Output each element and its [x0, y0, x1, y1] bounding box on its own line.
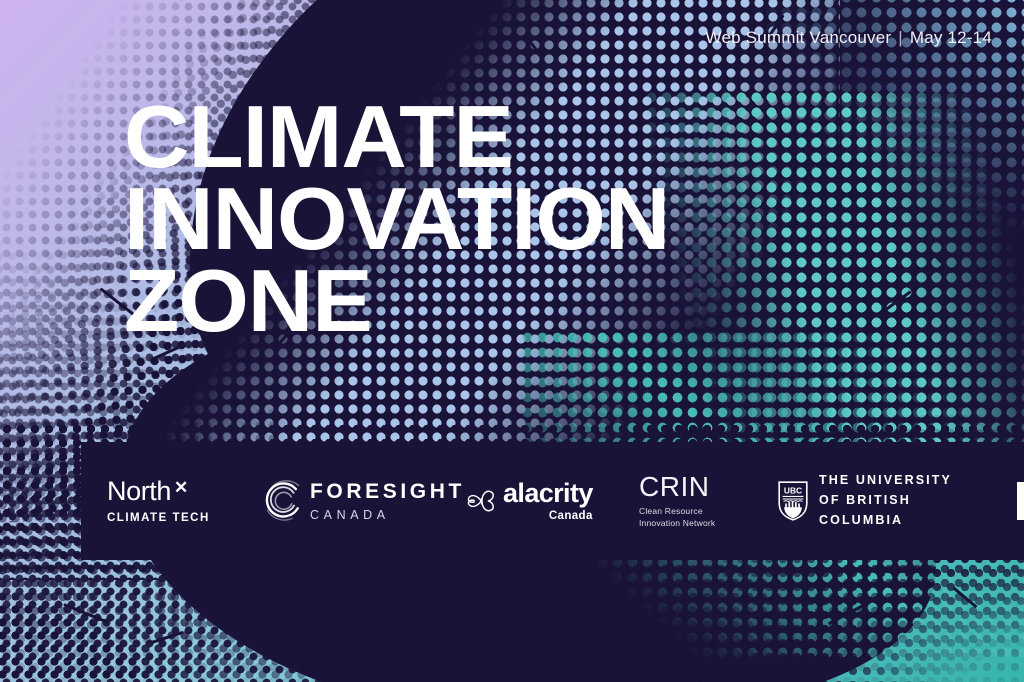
logo-alacrity-canada[interactable]: alacrity Canada: [465, 480, 605, 522]
alacrity-butterfly-icon: [465, 486, 499, 516]
event-header: Web Summit Vancouver|May 12-14: [706, 28, 992, 48]
logo-sfu[interactable]: SFU SIMON FRASER UNIVERSITY: [1017, 476, 1024, 527]
logo-crin[interactable]: CRIN Clean Resource Innovation Network: [639, 473, 744, 528]
svg-text:UBC: UBC: [784, 485, 802, 495]
close-x-icon: ✕: [174, 479, 188, 496]
crin-subtitle-line-2: Innovation Network: [639, 518, 715, 528]
ubc-crest-icon: UBC: [778, 481, 808, 521]
alacrity-word-1: alacrity: [503, 480, 593, 507]
foresight-wordmark: FORESIGHT CANADA: [310, 481, 465, 522]
crin-subtitle-line-1: Clean Resource: [639, 506, 703, 516]
foresight-word-1: FORESIGHT: [310, 481, 465, 502]
ubc-line-1: THE UNIVERSITY: [819, 471, 983, 491]
crin-subtitle: Clean Resource Innovation Network: [639, 506, 715, 528]
event-dates: May 12-14: [910, 28, 992, 47]
ubc-line-2: OF BRITISH COLUMBIA: [819, 491, 983, 531]
alacrity-wordmark: alacrity Canada: [503, 480, 593, 522]
headline-line-1: CLIMATE: [124, 96, 669, 178]
crin-wordmark: CRIN: [639, 473, 709, 501]
logo-northx-climate-tech[interactable]: North ✕ CLIMATE TECH: [107, 478, 227, 524]
northx-subtitle: CLIMATE TECH: [107, 512, 210, 524]
headline-line-3: ZONE: [124, 260, 669, 342]
foresight-swirl-icon: [261, 479, 305, 523]
northx-word: North: [107, 478, 171, 505]
page-title: CLIMATE INNOVATION ZONE: [124, 96, 669, 341]
foresight-word-2: CANADA: [310, 508, 465, 522]
event-separator: |: [891, 28, 910, 47]
alacrity-word-2: Canada: [549, 510, 593, 522]
poster-canvas: Web Summit Vancouver|May 12-14 CLIMATE I…: [0, 0, 1024, 682]
partner-logo-bar: North ✕ CLIMATE TECH FORESIGHT CANADA: [81, 442, 1024, 560]
logo-ubc[interactable]: UBC THE UNIVERSITY OF BRITISH COLUMBIA: [778, 471, 983, 530]
logo-foresight-canada[interactable]: FORESIGHT CANADA: [261, 479, 431, 523]
headline-line-2: INNOVATION: [124, 178, 669, 260]
ubc-wordmark: THE UNIVERSITY OF BRITISH COLUMBIA: [819, 471, 983, 530]
northx-wordmark: North ✕: [107, 478, 188, 505]
event-name: Web Summit Vancouver: [706, 28, 892, 47]
sfu-abbr-box: SFU: [1017, 482, 1024, 520]
